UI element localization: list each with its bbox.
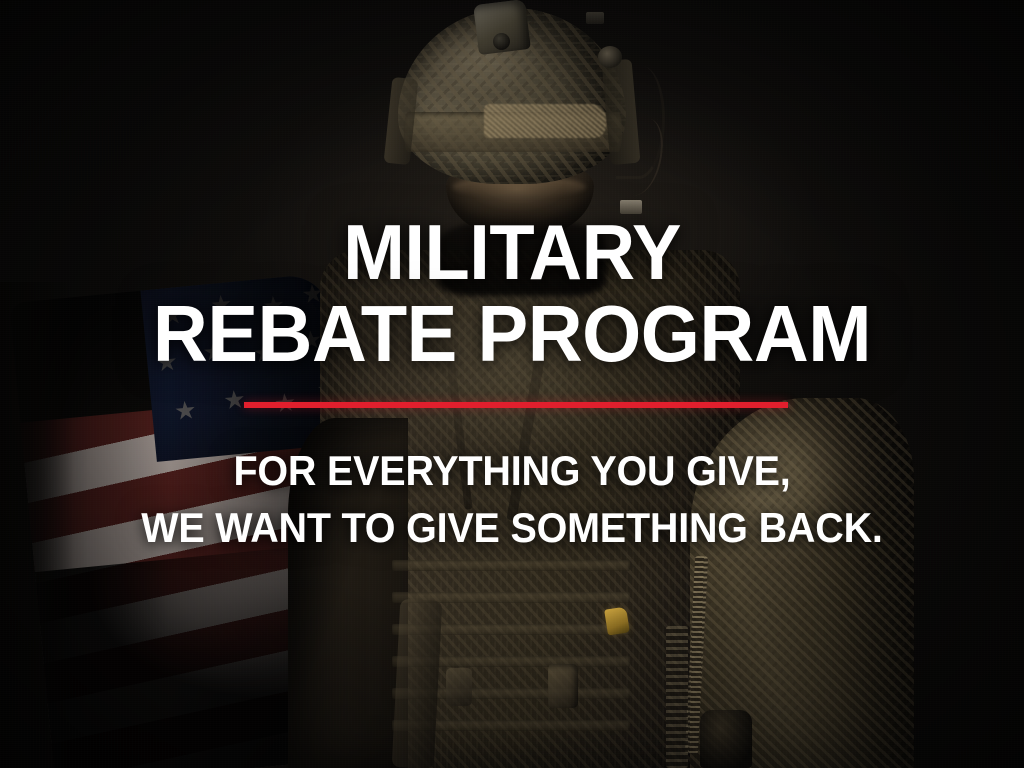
- helmet-label-patch: [620, 200, 642, 214]
- helmet-velcro-panel: [484, 104, 606, 138]
- vest-buckle: [446, 668, 472, 706]
- military-rebate-program-slide: ★ ★ ★ ★ ★ ★ ★ ★ ★ ★ ★ ★: [0, 0, 1024, 768]
- helmet-label-patch: [586, 12, 604, 24]
- yellow-pouch-tab: [604, 606, 630, 635]
- molle-webbing-icon: [392, 560, 630, 571]
- night-vision-knob: [493, 33, 510, 50]
- left-shoulder: [288, 418, 408, 768]
- vest-buckle: [548, 664, 578, 708]
- rifle-stock: [392, 599, 443, 768]
- helmet-fastener: [598, 46, 622, 68]
- rifle-rail: [666, 626, 688, 768]
- gear-pouch: [700, 710, 752, 768]
